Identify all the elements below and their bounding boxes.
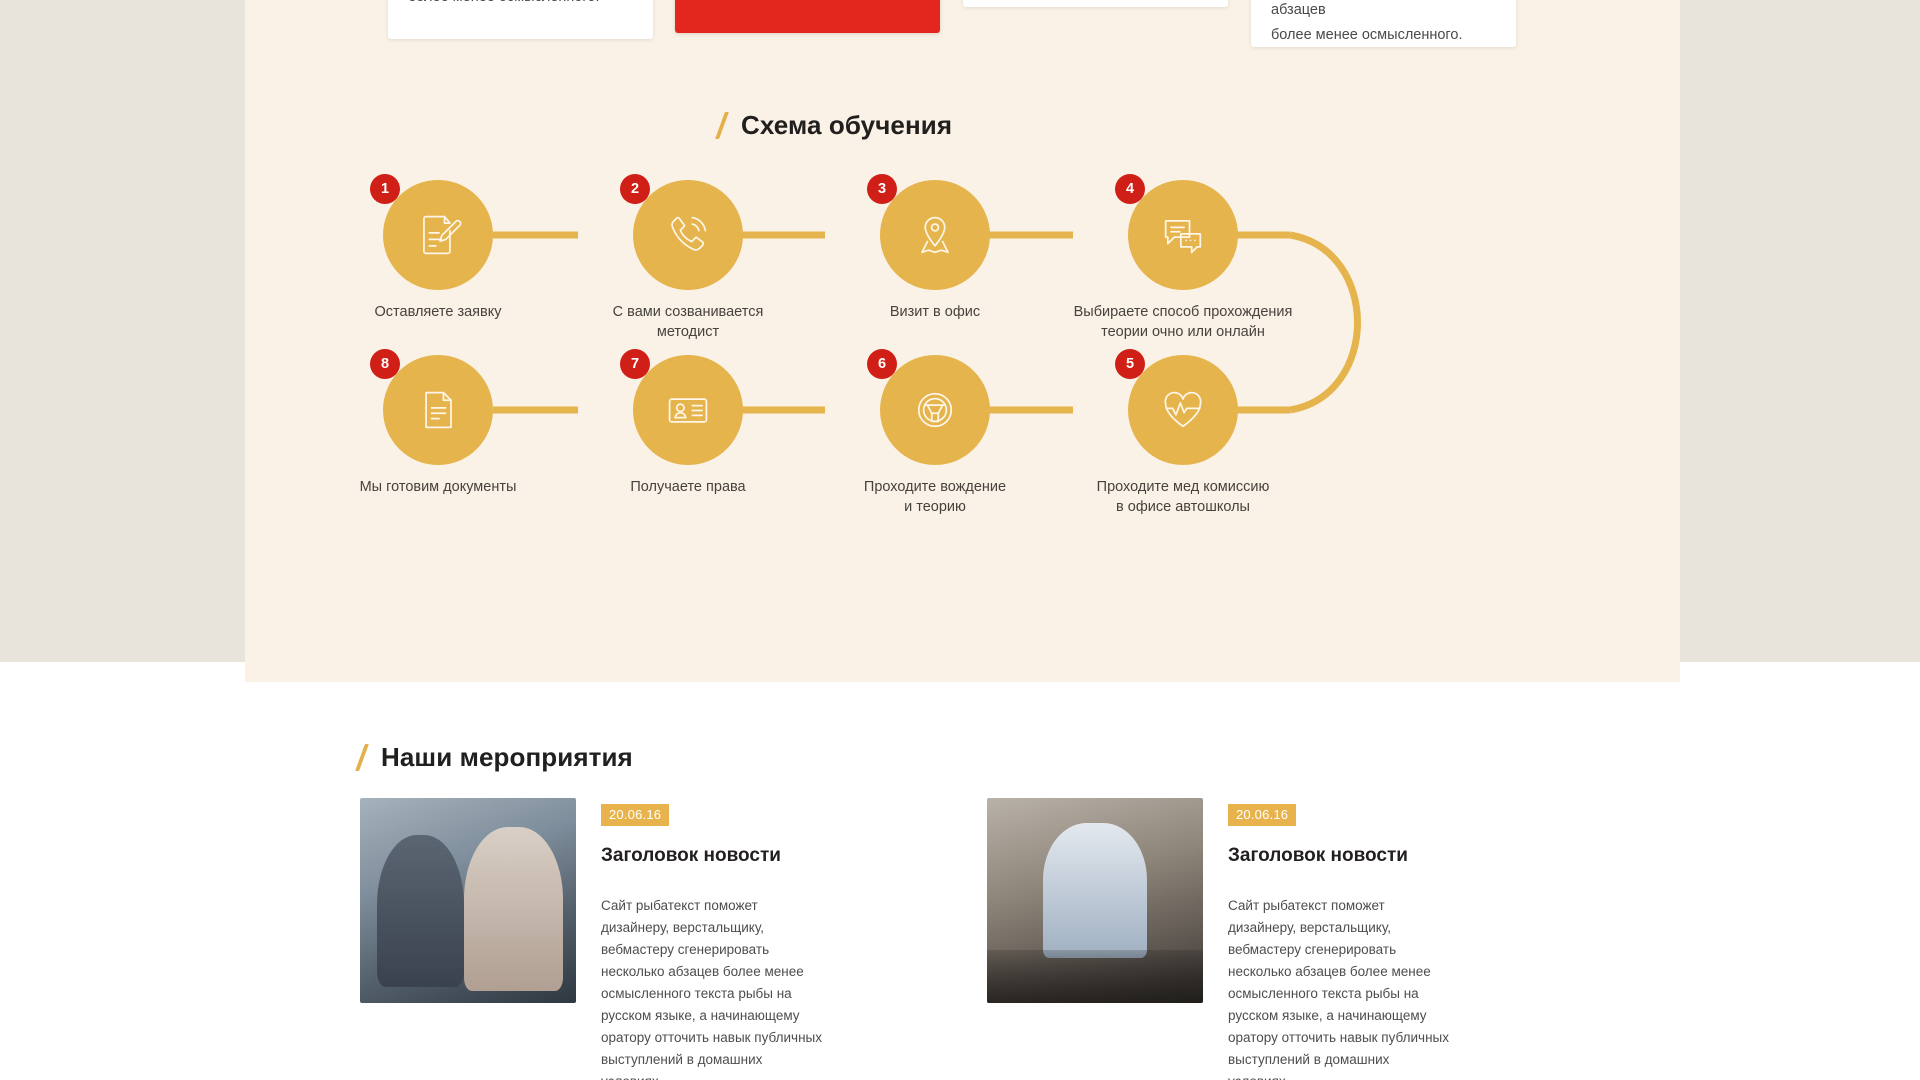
scheme-step-5-label-line2: в офисе автошколы — [1053, 497, 1313, 517]
scheme-step-4-label-line2: теории очно или онлайн — [1053, 322, 1313, 342]
news-body: 20.06.16 Заголовок новости Сайт рыбатекс… — [1203, 798, 1456, 1080]
scheme-step-2-label-line1: С вами созванивается — [558, 302, 818, 322]
scheme-step-7[interactable]: 7 Получаете права — [633, 355, 743, 465]
scheme-step-6-label-line2: и теорию — [805, 497, 1065, 517]
review-card-3[interactable] — [963, 0, 1228, 7]
scheme-step-4-circle — [1128, 180, 1238, 290]
page-root: более менее осмысленного. 20.09.2017 сге… — [0, 0, 1920, 1080]
document-icon — [412, 384, 464, 436]
news-excerpt: Сайт рыбатекст поможет дизайнеру, верста… — [1228, 895, 1456, 1080]
news-headline[interactable]: Заголовок новости — [601, 845, 829, 867]
scheme-step-6-label: Проходите вождение и теорию — [805, 477, 1065, 517]
scheme-step-1[interactable]: 1 Оставляете заявку — [383, 180, 493, 290]
news-grid: 20.06.16 Заголовок новости Сайт рыбатекс… — [360, 798, 1560, 1080]
review-card-4-text: сгенерировать несколько абзацев более ме… — [1251, 0, 1516, 48]
scheme-step-4-label-line1: Выбираете способ прохождения — [1053, 302, 1313, 322]
scheme-step-4-badge: 4 — [1115, 174, 1145, 204]
scheme-step-4[interactable]: 4 Выбираете способ прохождения теории оч… — [1128, 180, 1238, 290]
scheme-step-7-label: Получаете права — [558, 477, 818, 497]
map-pin-icon — [909, 209, 961, 261]
scheme-step-8-label: Мы готовим документы — [308, 477, 568, 497]
heart-pulse-icon — [1157, 384, 1209, 436]
scheme-step-2-label-line2: методист — [558, 322, 818, 342]
document-edit-icon — [412, 209, 464, 261]
scheme-step-1-badge: 1 — [370, 174, 400, 204]
scheme-title-text: Схема обучения — [741, 110, 952, 141]
steering-wheel-icon — [909, 384, 961, 436]
scheme-step-5-label-line1: Проходите мед комиссию — [1053, 477, 1313, 497]
scheme-step-6[interactable]: 6 Проходите вождение и теорию — [880, 355, 990, 465]
review-card-1[interactable]: более менее осмысленного. — [388, 0, 653, 39]
scheme-step-5-badge: 5 — [1115, 349, 1145, 379]
scheme-step-2-circle — [633, 180, 743, 290]
scheme-step-2-label: С вами созванивается методист — [558, 302, 818, 342]
scheme-step-3-label: Визит в офис — [805, 302, 1065, 322]
news-date-badge: 20.06.16 — [1228, 804, 1296, 826]
top-cards-strip: более менее осмысленного. 20.09.2017 сге… — [245, 0, 1680, 53]
news-thumbnail[interactable] — [987, 798, 1203, 1003]
slash-accent-icon — [715, 112, 729, 139]
scheme-step-7-badge: 7 — [620, 349, 650, 379]
scheme-step-8[interactable]: 8 Мы готовим документы — [383, 355, 493, 465]
news-thumbnail[interactable] — [360, 798, 576, 1003]
news-date-badge: 20.06.16 — [601, 804, 669, 826]
scheme-step-7-label-line1: Получаете права — [558, 477, 818, 497]
scheme-step-3-badge: 3 — [867, 174, 897, 204]
id-card-icon — [662, 384, 714, 436]
news-title-text: Наши мероприятия — [381, 742, 633, 773]
news-section-title: Наши мероприятия — [360, 742, 633, 773]
scheme-step-6-badge: 6 — [867, 349, 897, 379]
scheme-step-3-label-line1: Визит в офис — [805, 302, 1065, 322]
news-item[interactable]: 20.06.16 Заголовок новости Сайт рыбатекс… — [987, 798, 1539, 1080]
review-card-4-line2: более менее осмысленного. — [1271, 23, 1496, 48]
scheme-step-4-label: Выбираете способ прохождения теории очно… — [1053, 302, 1313, 342]
scheme-step-1-circle — [383, 180, 493, 290]
scheme-section-title: Схема обучения — [720, 110, 952, 141]
scheme-step-7-circle — [633, 355, 743, 465]
scheme-step-2[interactable]: 2 С вами созванивается методист — [633, 180, 743, 290]
scheme-step-8-label-line1: Мы готовим документы — [308, 477, 568, 497]
news-body: 20.06.16 Заголовок новости Сайт рыбатекс… — [576, 798, 829, 1080]
phone-call-icon — [662, 209, 714, 261]
scheme-step-5-circle — [1128, 355, 1238, 465]
scheme-step-1-label: Оставляете заявку — [308, 302, 568, 322]
scheme-step-5-label: Проходите мед комиссию в офисе автошколы — [1053, 477, 1313, 517]
scheme-step-6-label-line1: Проходите вождение — [805, 477, 1065, 497]
review-card-4-line1: сгенерировать несколько абзацев — [1271, 0, 1496, 23]
review-card-2-date: 20.09.2017 — [675, 0, 940, 2]
chat-bubbles-icon — [1157, 209, 1209, 261]
scheme-step-3-circle — [880, 180, 990, 290]
scheme-step-8-circle — [383, 355, 493, 465]
man-on-street-photo — [987, 798, 1203, 1003]
scheme-step-1-label-line1: Оставляете заявку — [308, 302, 568, 322]
scheme-step-6-circle — [880, 355, 990, 465]
scheme-step-5[interactable]: 5 Проходите мед комиссию в офисе автошко… — [1128, 355, 1238, 465]
review-card-1-text: более менее осмысленного. — [388, 0, 653, 10]
review-card-2-highlighted[interactable]: 20.09.2017 — [675, 0, 940, 33]
news-excerpt: Сайт рыбатекст поможет дизайнеру, верста… — [601, 895, 829, 1080]
scheme-diagram: 1 Оставляете заявку — [245, 180, 1680, 640]
scheme-section: более менее осмысленного. 20.09.2017 сге… — [245, 0, 1680, 682]
news-headline[interactable]: Заголовок новости — [1228, 845, 1456, 867]
couple-in-car-photo — [360, 798, 576, 1003]
scheme-step-2-badge: 2 — [620, 174, 650, 204]
news-item[interactable]: 20.06.16 Заголовок новости Сайт рыбатекс… — [360, 798, 912, 1080]
scheme-step-8-badge: 8 — [370, 349, 400, 379]
scheme-step-3[interactable]: 3 Визит в офис — [880, 180, 990, 290]
review-card-4[interactable]: сгенерировать несколько абзацев более ме… — [1251, 0, 1516, 47]
